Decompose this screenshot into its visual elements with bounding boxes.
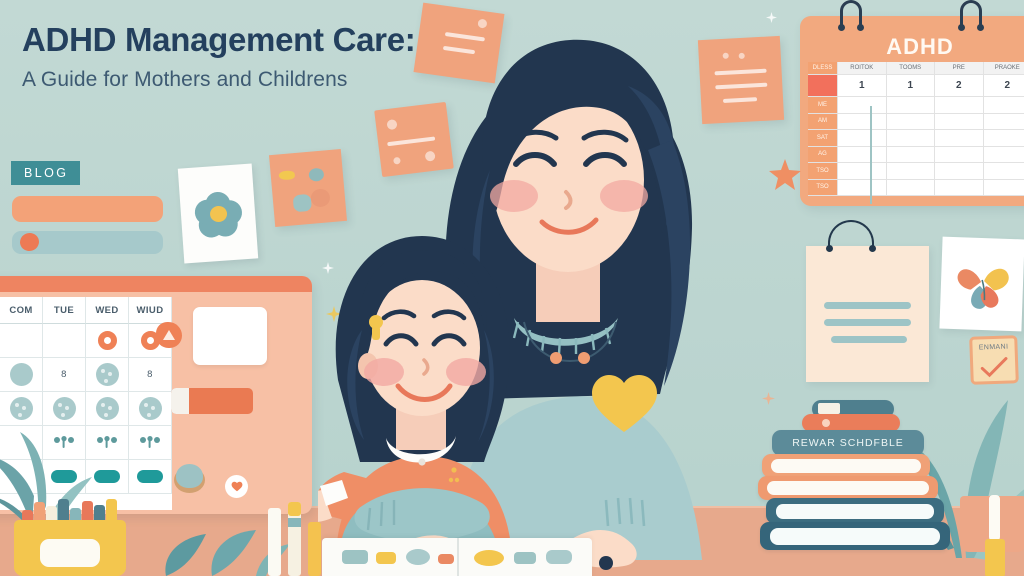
adhd-col-header: PRAOKE (984, 62, 1024, 75)
flower-art-card (939, 237, 1024, 332)
sprout-icon (139, 436, 161, 449)
day-header-mon: COM (0, 297, 43, 324)
adhd-col-header: TOOMS (887, 62, 936, 75)
adhd-number-cell: 2 (984, 75, 1024, 97)
day-header-wed: WED (86, 297, 129, 324)
adhd-board-title: ADHD (800, 34, 1024, 60)
flower-icon (195, 190, 244, 238)
book-reward-schedule[interactable]: REWAR SCHDFBLE (772, 430, 924, 456)
routine-cell (86, 426, 129, 460)
adhd-row-label: ME (808, 97, 838, 114)
table-row: SAT (808, 130, 1024, 147)
adhd-header-row: DLESS ROITOK TOOMS PRE PRAOKE (808, 62, 1024, 75)
book-stack: REWAR SCHDFBLE (750, 400, 970, 576)
pill-token (137, 470, 163, 483)
book-navy-2 (760, 522, 950, 550)
sprout-icon (96, 436, 118, 449)
table-row: AG (808, 147, 1024, 164)
flower-drawing-card (178, 164, 258, 264)
book-peach-2 (758, 476, 938, 500)
basket-body (14, 520, 126, 576)
poster-canvas: COM TUE WED WIUD 8 8 (0, 0, 1024, 576)
routine-cell-number: 8 (129, 358, 172, 392)
marker-tubes (268, 500, 326, 576)
adhd-row-label: SAT (808, 130, 838, 147)
adhd-col-header: PRE (935, 62, 984, 75)
whiteboard-note (193, 307, 267, 365)
circle-dots-token (96, 397, 119, 420)
star-icon (768, 158, 802, 192)
page-title: ADHD Management Care: (22, 22, 642, 59)
child-blush-right (446, 358, 486, 386)
open-book (322, 538, 592, 576)
routine-cell (129, 426, 172, 460)
circle-dots-token (96, 363, 119, 386)
progress-line-marker (870, 106, 872, 204)
routine-cell (86, 324, 129, 358)
table-row: ME (808, 97, 1024, 114)
child-blush-left (364, 358, 404, 386)
day-header-thu: WIUD (129, 297, 172, 324)
table-row: TSO (808, 180, 1024, 197)
book-peach-1 (762, 454, 930, 478)
cookie-sticker (174, 467, 205, 493)
adhd-row-label: AM (808, 114, 838, 131)
adhd-col-header: ROITOK (838, 62, 887, 75)
heart-sticker (225, 475, 248, 498)
adhd-number-cell: 1 (887, 75, 936, 97)
table-row: AM (808, 114, 1024, 131)
pill-token (94, 470, 120, 483)
clover-icon (945, 248, 1021, 321)
book-navy-1 (766, 498, 944, 524)
adhd-schedule-board: ADHD DLESS ROITOK TOOMS PRE PRAOKE 1 1 2… (800, 16, 1024, 206)
play-badge-icon (156, 322, 182, 348)
placeholder-bar-orange (12, 196, 163, 222)
routine-cell (86, 460, 129, 494)
adhd-number-cell: 1 (838, 75, 887, 97)
adhd-col-header: DLESS (808, 62, 838, 75)
adhd-row-spacer (808, 75, 838, 97)
headline-block: ADHD Management Care: A Guide for Mother… (22, 22, 642, 92)
adhd-row-label: TSO (808, 163, 838, 180)
heart-icon (231, 481, 243, 492)
adhd-grid: DLESS ROITOK TOOMS PRE PRAOKE 1 1 2 2 ME… (808, 62, 1024, 196)
routine-grid-header-row: COM TUE WED WIUD (0, 297, 172, 324)
routine-cell (129, 392, 172, 426)
eraser-icon (171, 388, 253, 414)
ring-token (98, 331, 117, 350)
routine-cell (129, 460, 172, 494)
book-spine-label: REWAR SCHDFBLE (772, 437, 924, 449)
adhd-number-cell: 2 (935, 75, 984, 97)
routine-cell (86, 358, 129, 392)
adhd-row-label: AG (808, 147, 838, 164)
sparkle-icon (766, 12, 777, 23)
page-subtitle: A Guide for Mothers and Childrens (22, 68, 642, 92)
adhd-row-label: TSO (808, 180, 838, 197)
circle-dots-token (139, 397, 162, 420)
nail (599, 556, 613, 570)
routine-cell (86, 392, 129, 426)
mother-blush-right (600, 180, 648, 212)
blog-badge[interactable]: BLOG (11, 161, 80, 185)
pencil-basket (8, 498, 132, 576)
chart-top-bar (0, 276, 312, 292)
clip-icon-left (840, 0, 862, 26)
mother-blush-left (490, 180, 538, 212)
candle (985, 495, 1005, 576)
clip-icon-right (960, 0, 982, 26)
table-row: TSO (808, 163, 1024, 180)
adhd-number-row: 1 1 2 2 (808, 75, 1024, 97)
day-header-tue: TUE (43, 297, 86, 324)
